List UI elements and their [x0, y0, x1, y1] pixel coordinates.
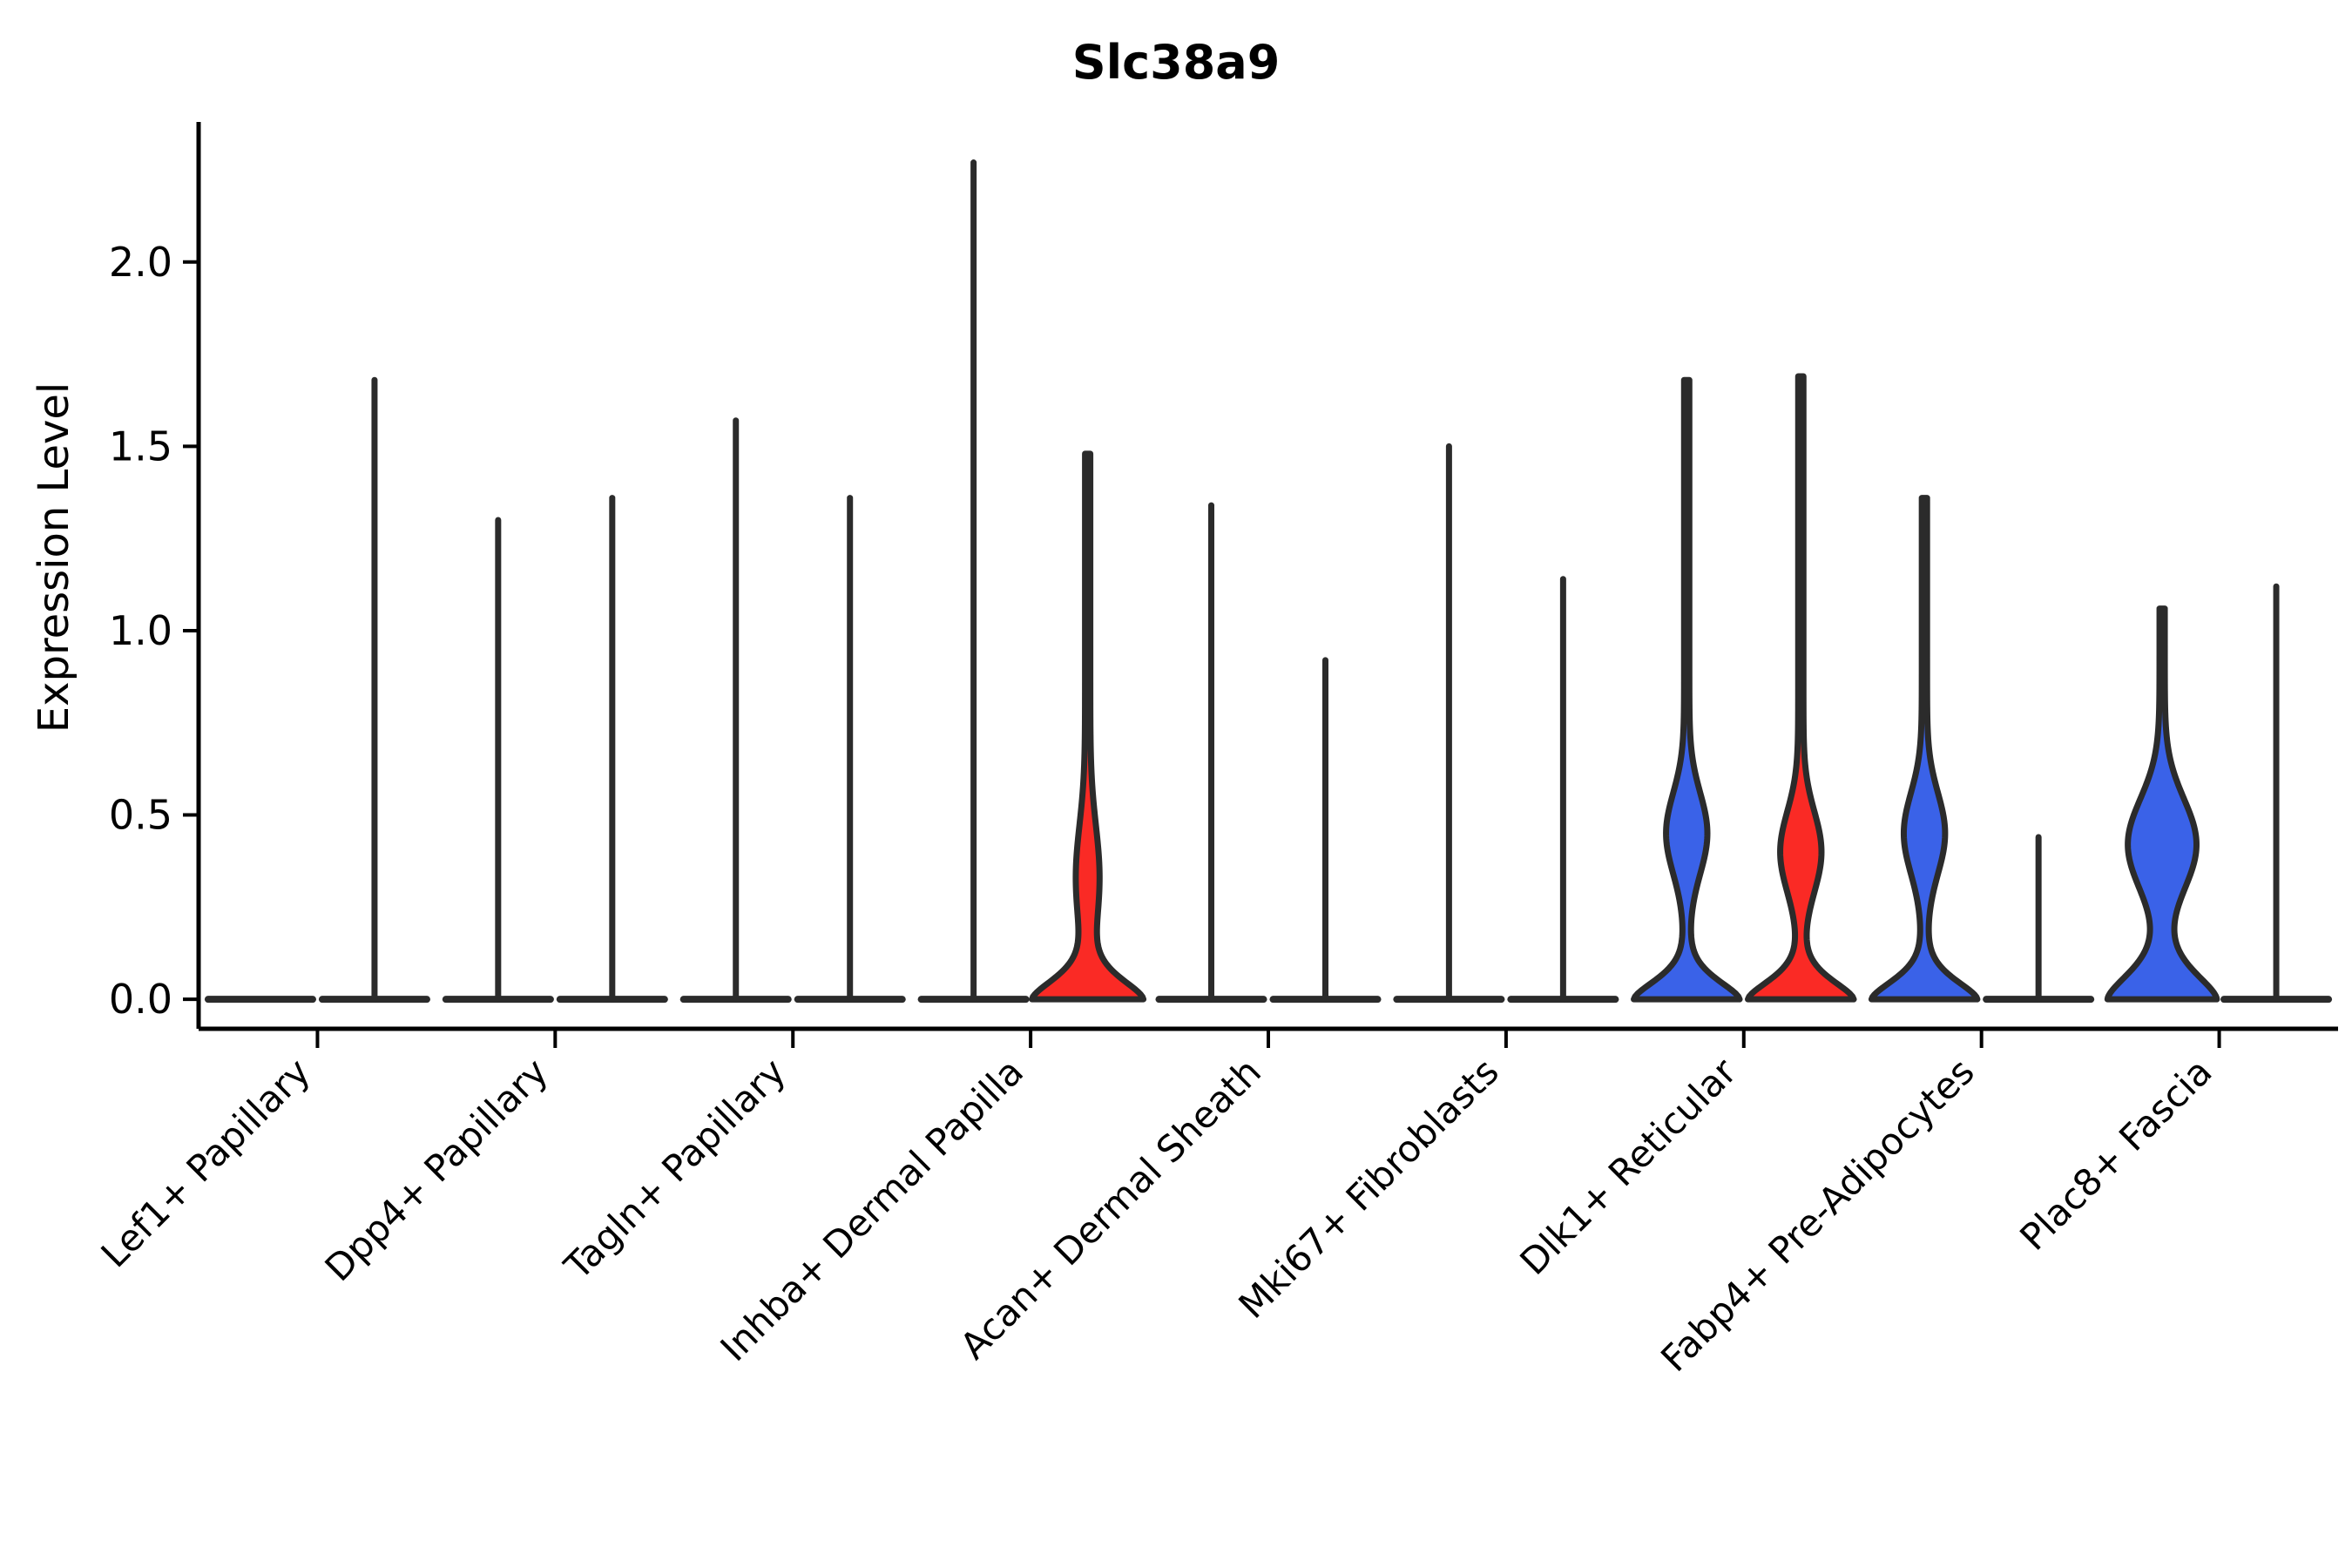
violin	[798, 498, 902, 1000]
violin	[1748, 376, 1855, 999]
violin-body	[1748, 376, 1855, 999]
violin-plot-figure: Slc38a9 Expression Level 0.00.51.01.52.0…	[0, 0, 2352, 1568]
x-tick-label: Lef1+ Papillary	[93, 1050, 319, 1275]
y-axis-label: Expression Level	[30, 382, 78, 733]
violin	[1511, 579, 1615, 999]
y-tick-label: 1.0	[109, 607, 172, 654]
violin	[2224, 586, 2328, 999]
violin	[1159, 505, 1263, 999]
violin	[684, 421, 788, 999]
violin	[1871, 498, 1977, 1000]
violin	[922, 163, 1026, 1000]
y-tick-label: 2.0	[109, 239, 172, 286]
violin-body	[2107, 609, 2216, 1000]
y-tick-group: 0.00.51.01.52.0	[109, 239, 199, 1023]
violin	[1273, 660, 1377, 999]
violin-body	[1634, 380, 1740, 999]
page-title: Slc38a9	[1072, 35, 1281, 90]
y-tick-label: 0.0	[109, 976, 172, 1023]
x-tick-label: Dpp4+ Papillary	[317, 1050, 557, 1289]
x-tick-label: Dlk1+ Reticular	[1511, 1050, 1745, 1283]
y-tick-label: 0.5	[109, 792, 172, 839]
violin	[2107, 609, 2216, 1000]
violin	[1032, 454, 1144, 999]
violin-body	[1032, 454, 1144, 999]
x-tick-label: Mki67+ Fibroblasts	[1230, 1050, 1506, 1326]
violin	[1986, 837, 2091, 999]
x-tick-label: Plac8+ Fascia	[2011, 1050, 2220, 1258]
violin	[322, 380, 427, 999]
violin	[560, 498, 665, 1000]
x-tick-group	[317, 1029, 2219, 1048]
x-tick-label: Tagln+ Papillary	[556, 1050, 794, 1288]
violin-body	[1871, 498, 1977, 1000]
violin	[1634, 380, 1740, 999]
violin	[446, 520, 551, 999]
plot-canvas: Slc38a9 Expression Level 0.00.51.01.52.0…	[0, 0, 2352, 1568]
y-tick-label: 1.5	[109, 422, 172, 470]
violin	[1396, 446, 1501, 999]
x-tick-label-group: Lef1+ PapillaryDpp4+ PapillaryTagln+ Pap…	[93, 1050, 2220, 1380]
violin-series-group	[208, 163, 2328, 1000]
